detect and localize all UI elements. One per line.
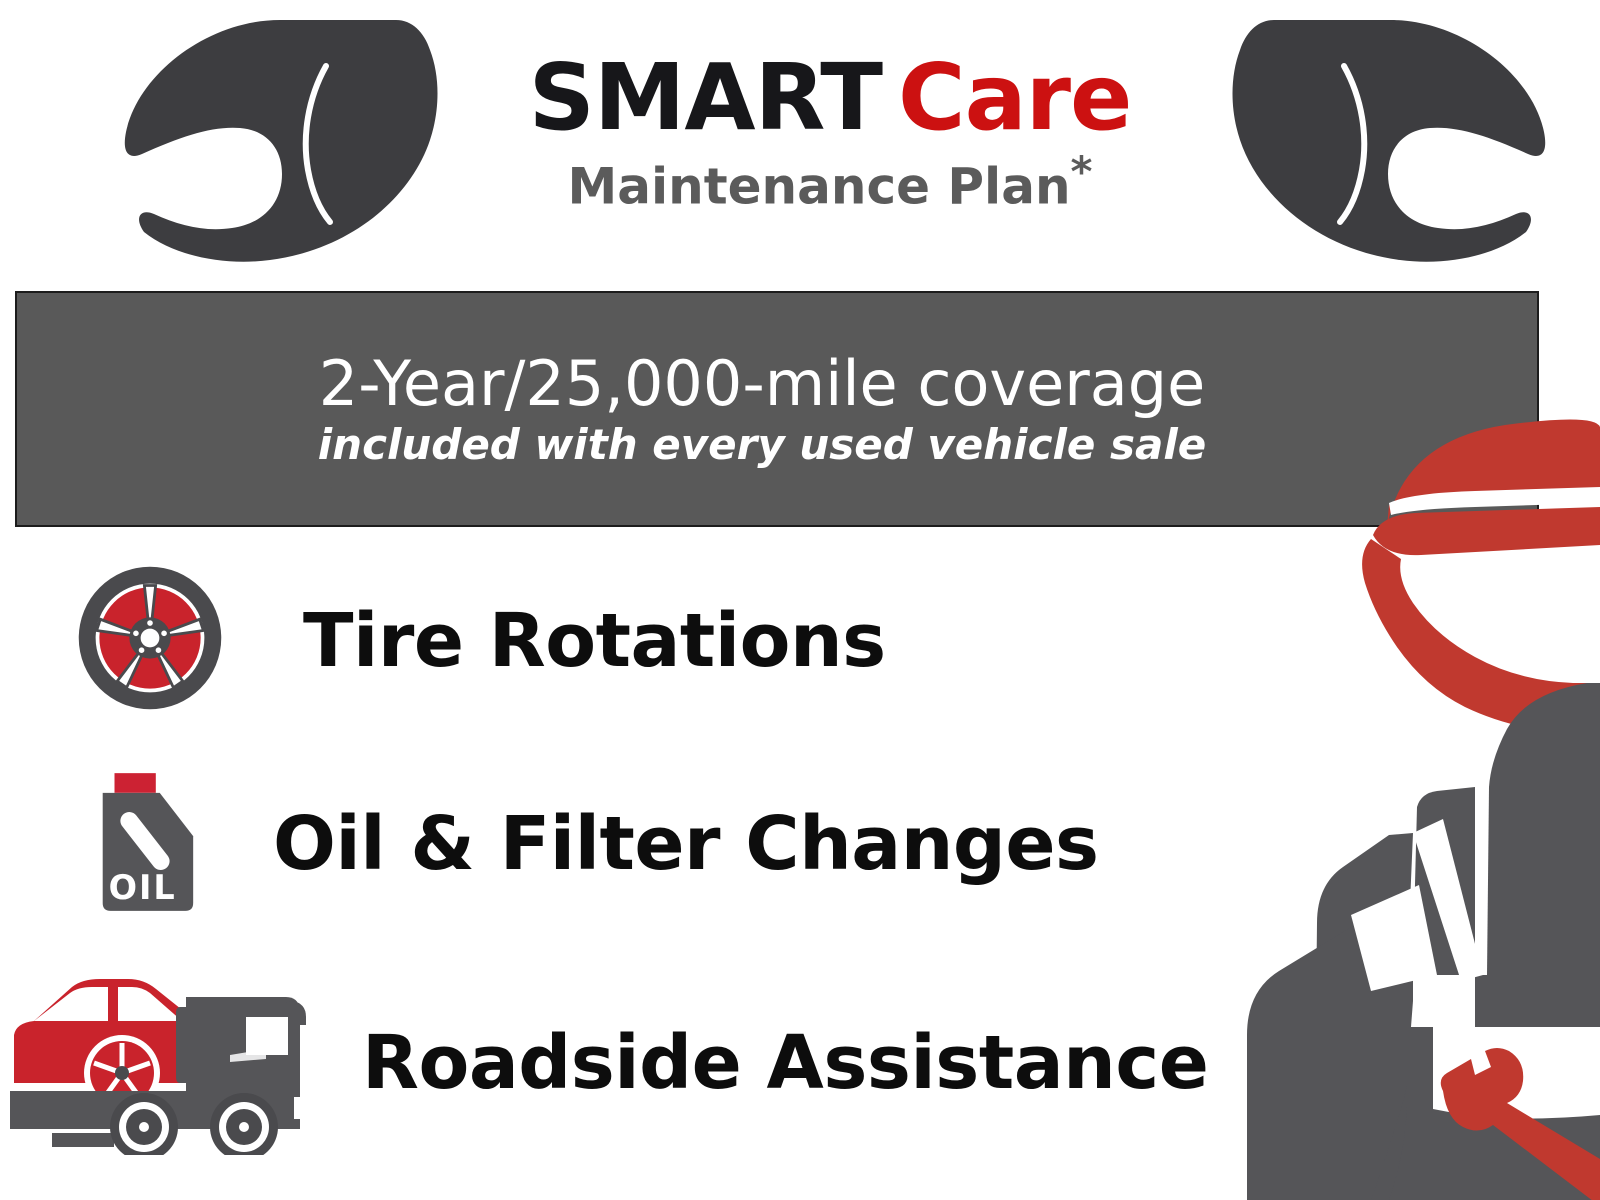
logo-title-care: Care <box>898 44 1131 151</box>
tire-icon <box>75 563 225 718</box>
tow-truck-icon <box>0 965 330 1160</box>
feature-label: Roadside Assistance <box>362 1020 1208 1106</box>
logo-wordmark: SMARTCare Maintenance Plan* <box>430 52 1230 213</box>
list-item: OIL Oil & Filter Changes <box>85 767 1099 920</box>
list-item: Roadside Assistance <box>0 965 1208 1160</box>
oil-bottle-icon: OIL <box>85 767 203 920</box>
logo-header: SMARTCare Maintenance Plan* <box>0 0 1600 280</box>
coverage-subline: included with every used vehicle sale <box>318 422 1206 468</box>
logo-subtitle: Maintenance Plan* <box>430 150 1230 213</box>
feature-label: Tire Rotations <box>303 598 886 684</box>
logo-subtitle-asterisk: * <box>1071 147 1093 196</box>
logo-title-smart: SMART <box>529 44 882 151</box>
coverage-banner: 2-Year/25,000-mile coverage included wit… <box>15 291 1539 527</box>
svg-text:OIL: OIL <box>109 868 177 907</box>
wrench-icon <box>112 14 442 264</box>
list-item: Tire Rotations <box>75 563 886 718</box>
feature-label: Oil & Filter Changes <box>273 801 1099 887</box>
logo-subtitle-text: Maintenance Plan <box>567 158 1070 216</box>
mechanic-illustration <box>1175 415 1600 1200</box>
red-wrench <box>1441 1048 1600 1200</box>
logo-title: SMARTCare <box>430 52 1230 144</box>
coverage-headline: 2-Year/25,000-mile coverage <box>319 350 1205 418</box>
smart-care-flyer: SMARTCare Maintenance Plan* 2-Year/25,00… <box>0 0 1600 1200</box>
gray-overalls <box>1247 683 1600 1200</box>
wrench-icon <box>1228 14 1558 264</box>
